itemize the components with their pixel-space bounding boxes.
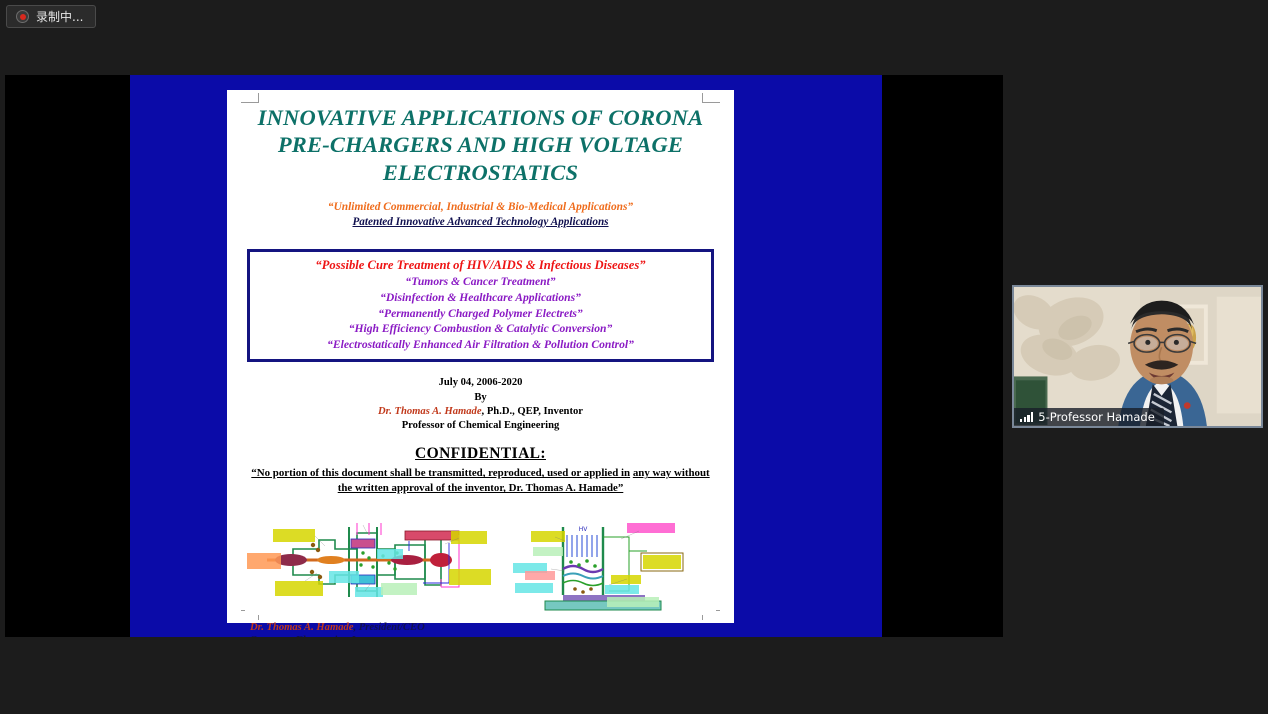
presentation-slide: INNOVATIVE APPLICATIONS OF CORONA PRE-CH…: [130, 75, 882, 637]
author-name: Dr. Thomas A. Hamade: [378, 406, 482, 417]
author-title: Professor of Chemical Engineering: [241, 419, 720, 433]
crop-mark-top-left: [241, 93, 259, 103]
claim-primary: “Possible Cure Treatment of HIV/AIDS & I…: [254, 257, 707, 274]
electrostatic-filtration-schematic: HV: [511, 509, 716, 615]
contact-name: Dr. Thomas A. Hamade: [250, 622, 354, 633]
figures-row: HV: [241, 509, 720, 615]
author-credentials: , Ph.D., QEP, Inventor: [482, 406, 583, 417]
recording-label: 录制中...: [36, 11, 83, 23]
meeting-screen-share-view: 录制中... INNOVATIVE APPLICATIONS OF CORONA…: [0, 0, 1268, 714]
svg-text:HV: HV: [579, 526, 589, 533]
presentation-date: July 04, 2006-2020: [241, 376, 720, 390]
shared-screen-stage[interactable]: INNOVATIVE APPLICATIONS OF CORONA PRE-CH…: [5, 75, 1003, 637]
crop-mark-top-right: [702, 93, 720, 103]
signal-bars-icon: [1020, 412, 1033, 422]
participant-video-tile[interactable]: 5-Professor Hamade: [1012, 285, 1263, 428]
contact-role: , President/CEO: [354, 622, 425, 633]
slide-subtitle-patented: Patented Innovative Advanced Technology …: [241, 215, 720, 230]
contact-name-line: Dr. Thomas A. Hamade, President/CEO: [250, 621, 711, 635]
participant-nameplate: 5-Professor Hamade: [1014, 408, 1164, 426]
slide-title: INNOVATIVE APPLICATIONS OF CORONA PRE-CH…: [255, 104, 706, 186]
corona-pre-charger-schematic: [245, 509, 493, 615]
recording-indicator[interactable]: 录制中...: [6, 5, 96, 28]
claims-box: “Possible Cure Treatment of HIV/AIDS & I…: [247, 249, 714, 362]
confidential-heading: CONFIDENTIAL:: [241, 445, 720, 463]
contact-company: Quantum Electronics, Inc.: [250, 634, 711, 637]
record-dot-icon: [16, 10, 29, 23]
document-page: INNOVATIVE APPLICATIONS OF CORONA PRE-CH…: [227, 90, 734, 623]
claim-item: “Disinfection & Healthcare Applications”: [254, 290, 707, 306]
document-body: INNOVATIVE APPLICATIONS OF CORONA PRE-CH…: [227, 104, 734, 637]
claim-item: “Permanently Charged Polymer Electrets”: [254, 306, 707, 322]
byline-by: By: [241, 391, 720, 405]
participant-video-feed: [1014, 287, 1261, 426]
byline-block: July 04, 2006-2020 By Dr. Thomas A. Hama…: [241, 376, 720, 433]
contact-block: Dr. Thomas A. Hamade, President/CEO Quan…: [241, 621, 720, 637]
claim-item: “High Efficiency Combustion & Catalytic …: [254, 321, 707, 337]
slide-subtitle-quote: “Unlimited Commercial, Industrial & Bio-…: [241, 200, 720, 214]
claim-item: “Tumors & Cancer Treatment”: [254, 274, 707, 290]
claim-item: “Electrostatically Enhanced Air Filtrati…: [254, 337, 707, 353]
confidential-line-1: “No portion of this document shall be tr…: [251, 467, 630, 479]
participant-name: 5-Professor Hamade: [1038, 410, 1155, 424]
confidential-notice: “No portion of this document shall be tr…: [249, 466, 712, 496]
author-line: Dr. Thomas A. Hamade, Ph.D., QEP, Invent…: [241, 405, 720, 419]
